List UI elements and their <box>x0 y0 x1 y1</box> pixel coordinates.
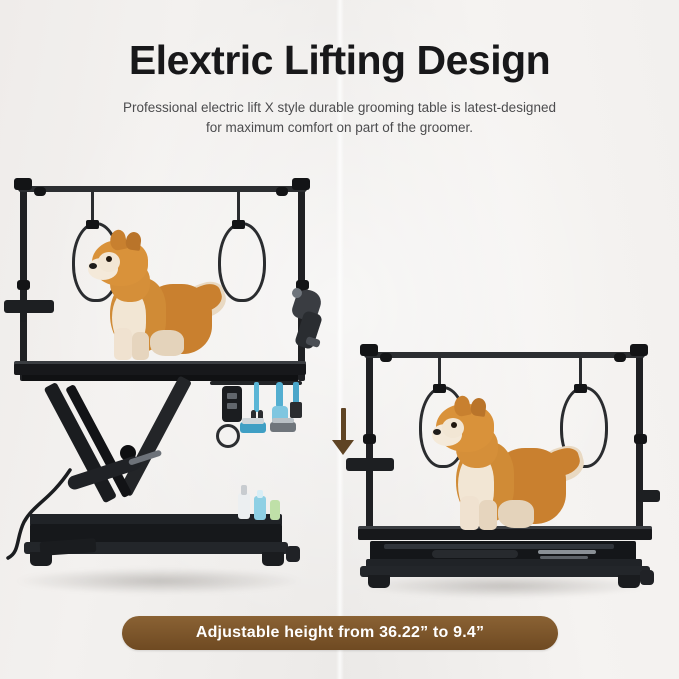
subtitle-line-2: for maximum comfort on part of the groom… <box>105 118 575 138</box>
arm-clamp-left <box>14 178 32 190</box>
arm-clamp-right <box>292 178 310 190</box>
collapsed-scissor-bar <box>384 544 614 549</box>
caster-wheel-2 <box>640 570 654 585</box>
side-tray-left[interactable] <box>4 300 54 313</box>
product-infographic: Elextric Lifting Design Professional ele… <box>0 0 679 679</box>
down-arrow-head <box>332 440 354 455</box>
comb[interactable] <box>290 382 302 422</box>
shiba-inu-left <box>88 228 228 366</box>
spray-bottle-blue[interactable] <box>252 490 268 520</box>
brush-grey[interactable] <box>270 418 296 434</box>
floor-shadow-left <box>14 568 304 594</box>
page-subtitle: Professional electric lift X style durab… <box>105 98 575 138</box>
post-adjust-knob-left-2[interactable] <box>363 434 376 444</box>
brush-blue[interactable] <box>240 418 266 436</box>
arm-knob-left-2[interactable] <box>380 353 392 362</box>
scene-left-raised-table <box>0 160 340 610</box>
side-tray-bracket-2 <box>366 468 372 480</box>
spray-bottle-white[interactable] <box>236 485 252 519</box>
leveling-foot-right <box>262 552 284 566</box>
arm-knob-right[interactable] <box>276 187 288 196</box>
noose-slider-left-2[interactable] <box>433 384 446 393</box>
base-frame-front-rail-2 <box>360 566 650 577</box>
subtitle-line-1: Professional electric lift X style durab… <box>105 98 575 118</box>
post-adjust-knob-left[interactable] <box>17 280 30 290</box>
nail-grinder[interactable] <box>214 422 236 444</box>
page-title: Elextric Lifting Design <box>0 0 679 84</box>
height-range-banner: Adjustable height from 36.22” to 9.4” <box>122 616 558 650</box>
shiba-inu-right <box>432 396 582 532</box>
rod-detail-1 <box>538 550 596 554</box>
floor-shadow-right <box>360 574 650 598</box>
leveling-foot-left <box>30 552 52 566</box>
arm-knob-left[interactable] <box>34 187 46 196</box>
arm-knob-right-2[interactable] <box>614 353 626 362</box>
arm-clamp-right-2 <box>630 344 648 356</box>
noose-slider-right-2[interactable] <box>574 384 587 393</box>
post-adjust-knob-right-2[interactable] <box>634 434 647 444</box>
scissor-leg-b <box>119 375 192 496</box>
leveling-foot-right-2 <box>618 575 640 588</box>
remote-control[interactable] <box>222 382 242 422</box>
header: Elextric Lifting Design Professional ele… <box>0 0 679 138</box>
leveling-foot-left-2 <box>368 575 390 588</box>
side-tray-right-small[interactable] <box>636 490 660 502</box>
noose-slider-right[interactable] <box>232 220 245 229</box>
caster-wheel <box>286 546 300 562</box>
arm-clamp-left-2 <box>360 344 378 356</box>
hair-dryer[interactable] <box>288 286 330 354</box>
grooming-arm-crossbar-2 <box>364 352 645 358</box>
scene-right-lowered-table <box>340 330 679 610</box>
bottle-green[interactable] <box>268 496 282 520</box>
side-tray-bracket <box>20 310 26 322</box>
actuator-collapsed <box>432 550 518 558</box>
height-range-text: Adjustable height from 36.22” to 9.4” <box>196 624 484 642</box>
grooming-arm-crossbar <box>18 186 307 192</box>
